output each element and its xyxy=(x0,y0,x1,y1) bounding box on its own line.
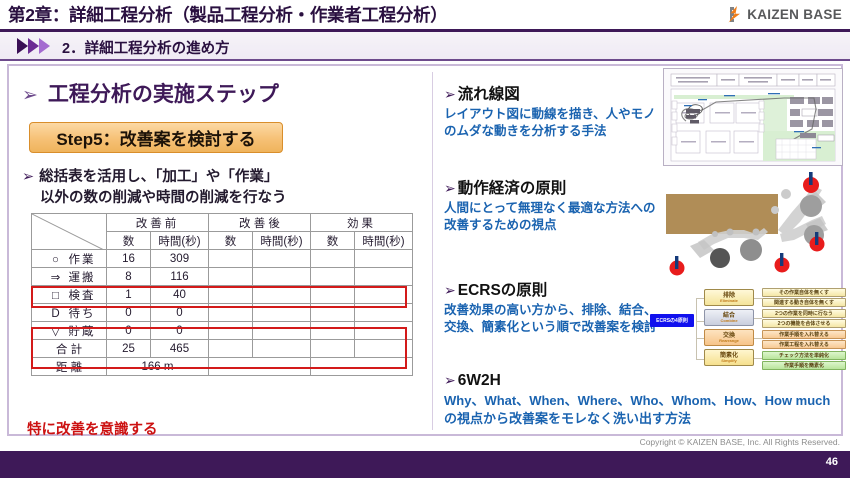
left-bullet-block: ➢総括表を活用し、「加工」や「作業」 以外の数の削減や時間の削減を行なう xyxy=(22,167,422,209)
bullet-arrow-icon: ➢ xyxy=(444,180,456,196)
column-divider xyxy=(432,72,433,430)
left-heading: ➢工程分析の実施ステップ xyxy=(22,78,279,108)
connector-line xyxy=(696,338,704,339)
row-name: 作業 xyxy=(69,254,96,266)
table-group-header-effect: 効果 xyxy=(311,214,413,232)
right-item-desc: 改善効果の高い方から、排除、結合、交換、簡素化という順で改善案を検討 xyxy=(444,302,659,335)
transport-symbol-icon: ⇒ xyxy=(43,270,69,284)
right-item-title: ➢流れ線図 xyxy=(444,82,659,104)
delay-symbol-icon: D xyxy=(43,308,69,320)
table-corner-cell xyxy=(32,214,107,250)
ecrs-actions-column: その作業自体を無くす 関連する動き自体を無くす 2つの作業を同時に行なう 2つの… xyxy=(762,288,846,370)
table-row: ○作業 16 309 xyxy=(32,250,413,268)
chevron-right-icon xyxy=(39,38,50,54)
page-number: 46 xyxy=(826,456,838,468)
connector-line xyxy=(754,358,762,359)
table-group-header-after: 改 善 後 xyxy=(209,214,311,232)
cell-effect-time xyxy=(355,250,413,268)
ecrs-label-box: ECRSの4原則 xyxy=(650,314,694,327)
slide-subheader: 2．詳細工程分析の進め方 xyxy=(0,32,850,60)
cell-after-count xyxy=(209,250,253,268)
cell-before-time: 309 xyxy=(151,250,209,268)
table-subheader-before-time: 時間(秒) xyxy=(151,232,209,250)
chapter-title: 第2章：詳細工程分析（製品工程分析・作業者工程分析） xyxy=(8,2,447,27)
left-heading-text: 工程分析の実施ステップ xyxy=(48,83,279,106)
right-item-title-text: 流れ線図 xyxy=(458,86,520,103)
connector-line xyxy=(754,318,762,319)
ecrs-action-item: 2つの機能を合体させる xyxy=(762,319,846,328)
highlight-frame-delay-storage xyxy=(31,327,407,369)
ecrs-action-item: 作業手順を簡素化 xyxy=(762,361,846,370)
right-item-title: ➢ECRSの原則 xyxy=(444,278,659,300)
connector-line xyxy=(754,338,762,339)
table-group-header-before: 改善前 xyxy=(107,214,209,232)
logo-text: KAIZEN BASE xyxy=(747,7,842,22)
ecrs-principle-combine: 結合 Combine xyxy=(704,309,754,326)
ecrs-principles-column: 排除 Eliminate 結合 Combine 交換 Rearrange 簡素化… xyxy=(704,288,754,370)
table-subheader-after-count: 数 xyxy=(209,232,253,250)
right-item-title-text: ECRSの原則 xyxy=(458,282,548,299)
flow-line-diagram-thumbnail xyxy=(663,68,843,166)
right-item-title: ➢6W2H xyxy=(444,372,840,390)
cell-before-time: 116 xyxy=(151,268,209,286)
right-item-desc: 人間にとって無理なく最適な方法への改善するための視点 xyxy=(444,200,659,233)
section-title: 2．詳細工程分析の進め方 xyxy=(62,37,230,58)
slide-root: 第2章：詳細工程分析（製品工程分析・作業者工程分析） KAIZEN BASE 2… xyxy=(0,0,850,478)
right-item-title-text: 動作経済の原則 xyxy=(458,180,567,197)
bullet-arrow-icon: ➢ xyxy=(22,169,34,185)
brand-logo: KAIZEN BASE xyxy=(725,4,842,25)
ecrs-action-item: 作業工程を入れ替える xyxy=(762,340,846,349)
copyright-text: Copyright © KAIZEN BASE, Inc. All Rights… xyxy=(640,437,840,447)
table-row: ⇒運搬 8 116 xyxy=(32,268,413,286)
kaizen-base-logo-icon xyxy=(725,5,744,24)
step-label-text: Step5：改善案を検討する xyxy=(56,125,255,150)
bullet-arrow-icon: ➢ xyxy=(444,86,456,102)
right-item-desc: レイアウト図に動線を描き、人やモノのムダな動きを分析する手法 xyxy=(444,106,659,139)
connector-line xyxy=(696,298,697,360)
ecrs-action-item: その作業自体を無くす xyxy=(762,288,846,297)
left-note: 特に改善を意識する xyxy=(27,418,158,439)
cell-after-count xyxy=(209,268,253,286)
table-group-header-row: 改善前 改 善 後 効果 xyxy=(32,214,413,232)
right-item-title: ➢動作経済の原則 xyxy=(444,176,659,198)
chevron-right-icon xyxy=(17,38,28,54)
connector-line xyxy=(696,359,704,360)
ecrs-action-item: 作業手順を入れ替える xyxy=(762,330,846,339)
ecrs-action-item: 関連する動き自体を無くす xyxy=(762,298,846,307)
step-label-box: Step5：改善案を検討する xyxy=(29,122,283,153)
cell-after-time xyxy=(253,250,311,268)
slide-header: 第2章：詳細工程分析（製品工程分析・作業者工程分析） KAIZEN BASE xyxy=(0,0,850,30)
right-item-6w2h: ➢6W2H Why、What、When、Where、Who、Whom、How、H… xyxy=(444,372,840,427)
cell-before-count: 8 xyxy=(107,268,151,286)
table-subheader-before-count: 数 xyxy=(107,232,151,250)
table-subheader-effect-time: 時間(秒) xyxy=(355,232,413,250)
bullet-arrow-icon: ➢ xyxy=(22,85,38,106)
subheader-rule xyxy=(0,59,850,61)
ecrs-principle-rearrange: 交換 Rearrange xyxy=(704,329,754,346)
right-item-desc: Why、What、When、Where、Who、Whom、How、How muc… xyxy=(444,392,840,427)
cell-effect-count xyxy=(311,268,355,286)
cell-before-count: 16 xyxy=(107,250,151,268)
ecrs-diagram: ECRSの4原則 排除 Eliminate 結合 Combine 交換 Rear… xyxy=(650,288,846,370)
right-item-flow-line: ➢流れ線図 レイアウト図に動線を描き、人やモノのムダな動きを分析する手法 xyxy=(444,82,659,139)
bullet-arrow-icon: ➢ xyxy=(444,282,456,298)
chevron-right-icon xyxy=(28,38,39,54)
row-name: 運搬 xyxy=(69,272,96,284)
cell-effect-time xyxy=(355,268,413,286)
row-label-operation: ○作業 xyxy=(32,250,107,268)
right-item-ecrs: ➢ECRSの原則 改善効果の高い方から、排除、結合、交換、簡素化という順で改善案… xyxy=(444,278,659,335)
ecrs-principle-simplify: 簡素化 Simplify xyxy=(704,349,754,366)
table-subheader-effect-count: 数 xyxy=(311,232,355,250)
connector-line xyxy=(754,298,762,299)
footer-bar xyxy=(0,451,850,478)
ecrs-principle-eliminate: 排除 Eliminate xyxy=(704,289,754,306)
left-bullet-line2: 以外の数の削減や時間の削減を行なう xyxy=(40,188,422,209)
connector-line xyxy=(696,321,704,322)
table-subheader-after-time: 時間(秒) xyxy=(253,232,311,250)
cell-effect-count xyxy=(311,250,355,268)
bullet-arrow-icon: ➢ xyxy=(444,372,456,388)
right-item-motion-economy: ➢動作経済の原則 人間にとって無理なく最適な方法への改善するための視点 xyxy=(444,176,659,233)
cell-after-time xyxy=(253,268,311,286)
row-label-transport: ⇒運搬 xyxy=(32,268,107,286)
row-name: 待ち xyxy=(69,308,96,320)
left-bullet-line1: 総括表を活用し、「加工」や「作業」 xyxy=(39,169,278,185)
ecrs-action-item: 2つの作業を同時に行なう xyxy=(762,309,846,318)
motion-economy-illustration xyxy=(660,172,845,282)
connector-line xyxy=(696,298,704,299)
right-item-title-text: 6W2H xyxy=(458,372,501,389)
ecrs-action-item: チェック方法を単純化 xyxy=(762,351,846,360)
operation-symbol-icon: ○ xyxy=(43,254,69,266)
highlight-frame-transport xyxy=(31,286,407,308)
